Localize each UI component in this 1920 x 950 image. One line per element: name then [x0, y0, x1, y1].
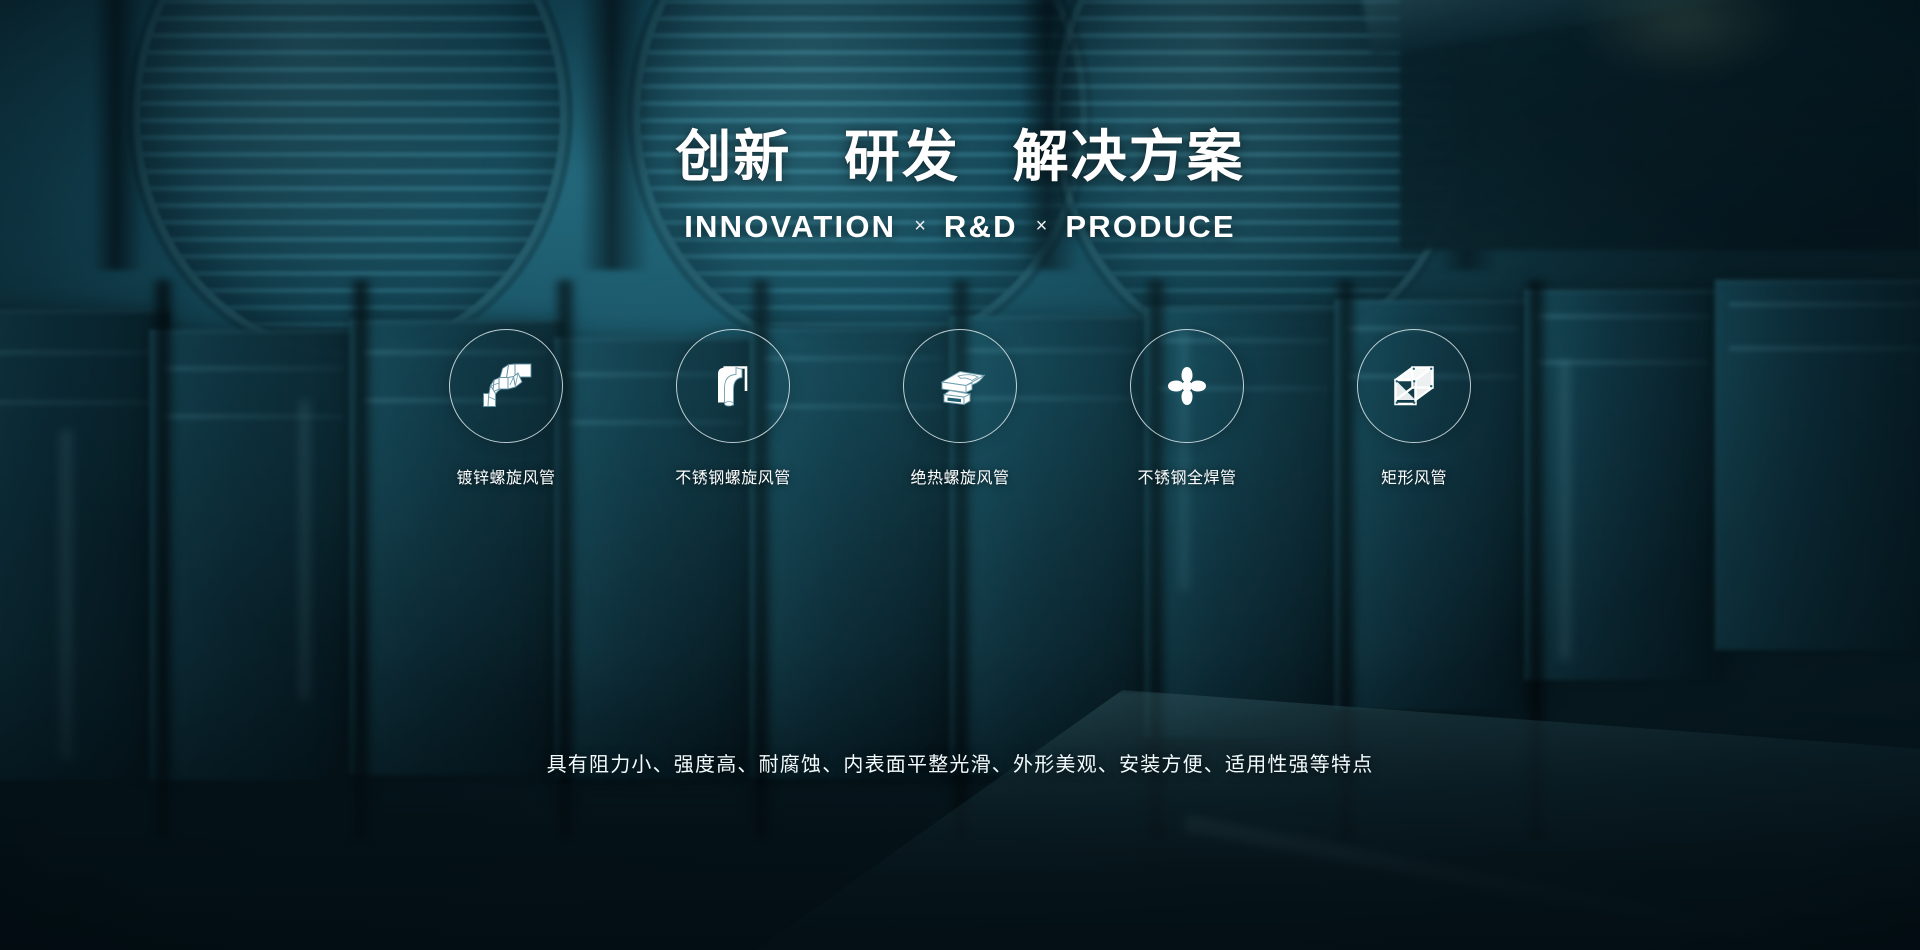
feature-tagline: 具有阻力小、强度高、耐腐蚀、内表面平整光滑、外形美观、安装方便、适用性强等特点 [0, 748, 1920, 777]
product-label: 绝热螺旋风管 [910, 464, 1009, 488]
subtitle-part-rd: R&D [944, 209, 1018, 245]
product-label: 镀锌螺旋风管 [456, 464, 555, 488]
times-separator-icon: × [914, 215, 926, 238]
product-item-stainless-welded-pipe[interactable]: 不锈钢全焊管 [1130, 329, 1244, 488]
product-label: 矩形风管 [1381, 464, 1447, 488]
page-title: 创新 研发 解决方案 [675, 126, 1244, 189]
product-label: 不锈钢全焊管 [1137, 464, 1236, 488]
product-item-stainless-spiral-duct[interactable]: 不锈钢螺旋风管 [676, 329, 790, 488]
product-icon-list: 镀锌螺旋风管 不锈钢螺旋风管 [449, 329, 1471, 488]
product-icon-circle[interactable] [676, 329, 790, 443]
four-blade-fan-icon [1156, 355, 1218, 417]
segmented-spiral-elbow-duct-icon [475, 355, 537, 417]
product-icon-circle[interactable] [1357, 329, 1471, 443]
times-separator-icon: × [1036, 215, 1048, 238]
product-icon-circle[interactable] [1130, 329, 1244, 443]
product-icon-circle[interactable] [903, 329, 1017, 443]
subtitle-part-innovation: INNOVATION [684, 209, 896, 245]
rectangular-duct-box-icon [1383, 355, 1445, 417]
smooth-curved-elbow-duct-icon [702, 355, 764, 417]
product-label: 不锈钢螺旋风管 [675, 464, 791, 488]
product-item-rectangular-duct[interactable]: 矩形风管 [1357, 329, 1471, 488]
subtitle: INNOVATION × R&D × PRODUCE [684, 209, 1236, 245]
banner-content: 创新 研发 解决方案 INNOVATION × R&D × PRODUCE [0, 0, 1920, 950]
insulated-duct-layer-icon [928, 354, 992, 418]
subtitle-part-produce: PRODUCE [1065, 209, 1235, 245]
hero-banner: 创新 研发 解决方案 INNOVATION × R&D × PRODUCE [0, 0, 1920, 950]
product-item-insulated-spiral-duct[interactable]: 绝热螺旋风管 [903, 329, 1017, 488]
product-icon-circle[interactable] [449, 329, 563, 443]
product-item-galvanized-spiral-duct[interactable]: 镀锌螺旋风管 [449, 329, 563, 488]
